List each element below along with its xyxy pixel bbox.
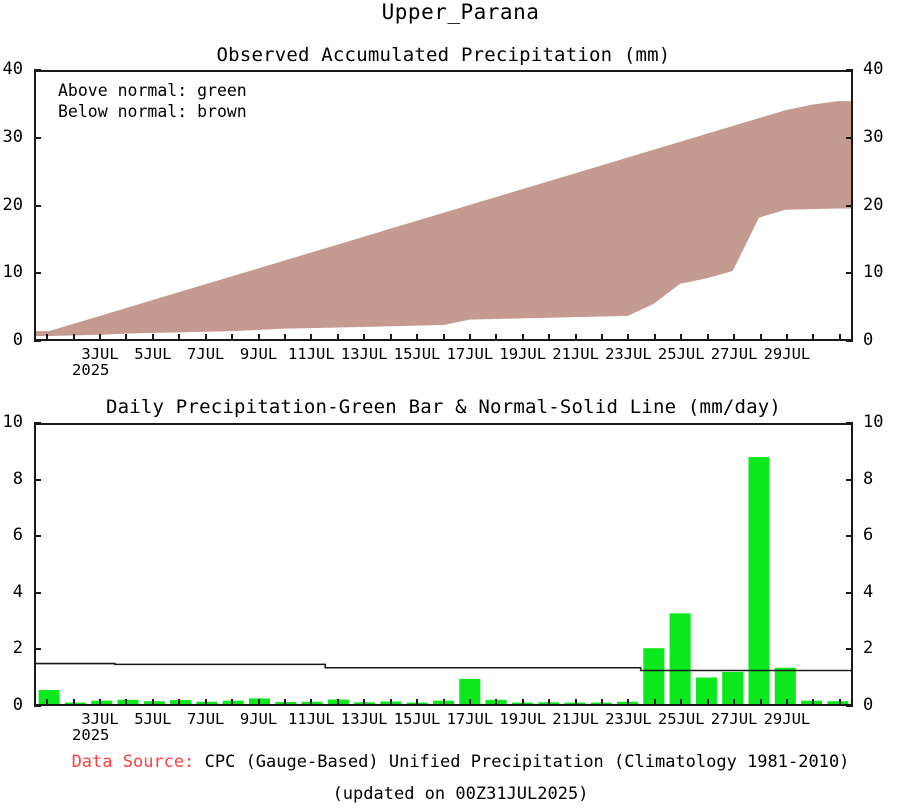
x-tick [284, 334, 286, 341]
y-axis-label-left: 20 [0, 197, 23, 214]
y-tick-left [34, 272, 41, 274]
y-tick-left [34, 648, 41, 650]
x-tick [575, 699, 577, 706]
y-axis-label-right: 10 [863, 414, 921, 431]
y-tick-left [34, 340, 41, 342]
y-axis-label-left: 30 [0, 129, 23, 146]
x-tick [839, 334, 841, 341]
x-tick [152, 334, 154, 341]
x-tick [363, 699, 365, 706]
x-tick [760, 699, 762, 706]
x-tick [680, 699, 682, 706]
data-source-text: CPC (Gauge-Based) Unified Precipitation … [194, 752, 849, 772]
y-tick-left [34, 69, 41, 71]
y-tick-left [34, 535, 41, 537]
x-tick [443, 699, 445, 706]
x-tick [601, 699, 603, 706]
data-source-line: Data Source: CPC (Gauge-Based) Unified P… [0, 752, 921, 772]
y-tick-left [34, 479, 41, 481]
x-tick [416, 334, 418, 341]
y-tick-left [34, 592, 41, 594]
y-axis-label-right: 6 [863, 527, 921, 544]
x-tick [310, 699, 312, 706]
x-tick [707, 334, 709, 341]
x-tick [654, 334, 656, 341]
x-tick [575, 334, 577, 341]
x-tick [125, 334, 127, 341]
x-tick [125, 699, 127, 706]
x-tick [443, 334, 445, 341]
x-tick [760, 334, 762, 341]
y-tick-right [846, 648, 853, 650]
x-tick [390, 699, 392, 706]
x-tick [46, 699, 48, 706]
y-tick-right [846, 137, 853, 139]
x-tick [99, 334, 101, 341]
y-axis-label-right: 0 [863, 332, 921, 349]
y-tick-right [846, 205, 853, 207]
y-axis-label-left: 0 [0, 697, 23, 714]
x-tick [786, 699, 788, 706]
y-tick-left [34, 137, 41, 139]
y-tick-left [34, 422, 41, 424]
x-tick [73, 699, 75, 706]
y-axis-label-left: 10 [0, 414, 23, 431]
y-tick-right [846, 479, 853, 481]
y-tick-right [846, 535, 853, 537]
y-tick-right [846, 705, 853, 707]
y-axis-label-left: 10 [0, 264, 23, 281]
x-tick [786, 334, 788, 341]
x-tick [258, 699, 260, 706]
y-tick-left [34, 205, 41, 207]
data-source-label: Data Source: [72, 752, 195, 772]
x-tick [152, 699, 154, 706]
y-tick-right [846, 272, 853, 274]
x-tick [548, 699, 550, 706]
x-tick [46, 334, 48, 341]
y-axis-label-left: 8 [0, 471, 23, 488]
x-tick [390, 334, 392, 341]
x-tick [73, 334, 75, 341]
x-tick [812, 334, 814, 341]
x-axis-label: 29JUL [747, 711, 827, 727]
x-tick [310, 334, 312, 341]
x-axis-label: 29JUL [747, 346, 827, 362]
y-axis-label-right: 10 [863, 264, 921, 281]
x-tick [231, 334, 233, 341]
y-tick-left [34, 705, 41, 707]
x-tick [839, 699, 841, 706]
x-axis-year-label: 2025 [72, 727, 109, 743]
x-tick [205, 699, 207, 706]
y-axis-label-left: 40 [0, 61, 23, 78]
x-tick [812, 699, 814, 706]
x-tick [627, 334, 629, 341]
x-tick [205, 334, 207, 341]
x-tick [522, 334, 524, 341]
x-tick [363, 334, 365, 341]
y-axis-label-left: 4 [0, 584, 23, 601]
axis-layer: 001010202030304040002244668810103JUL5JUL… [0, 0, 921, 809]
x-tick [337, 699, 339, 706]
chart-page: Upper_Parana Observed Accumulated Precip… [0, 0, 921, 809]
x-tick [522, 699, 524, 706]
x-tick [627, 699, 629, 706]
x-tick [680, 334, 682, 341]
x-tick [99, 699, 101, 706]
y-axis-label-right: 4 [863, 584, 921, 601]
y-axis-label-left: 6 [0, 527, 23, 544]
y-tick-right [846, 422, 853, 424]
y-axis-label-right: 2 [863, 640, 921, 657]
y-axis-label-right: 20 [863, 197, 921, 214]
x-tick [337, 334, 339, 341]
x-tick [416, 699, 418, 706]
y-axis-label-right: 30 [863, 129, 921, 146]
x-tick [258, 334, 260, 341]
x-tick [469, 699, 471, 706]
y-axis-label-right: 40 [863, 61, 921, 78]
y-axis-label-right: 8 [863, 471, 921, 488]
x-tick [178, 699, 180, 706]
y-tick-right [846, 69, 853, 71]
x-tick [707, 699, 709, 706]
x-tick [469, 334, 471, 341]
x-tick [733, 334, 735, 341]
y-axis-label-right: 0 [863, 697, 921, 714]
x-tick [495, 699, 497, 706]
x-tick [548, 334, 550, 341]
y-tick-right [846, 592, 853, 594]
y-tick-right [846, 340, 853, 342]
x-axis-year-label: 2025 [72, 362, 109, 378]
x-tick [231, 699, 233, 706]
y-axis-label-left: 2 [0, 640, 23, 657]
x-tick [495, 334, 497, 341]
x-tick [601, 334, 603, 341]
y-axis-label-left: 0 [0, 332, 23, 349]
x-tick [178, 334, 180, 341]
x-tick [284, 699, 286, 706]
x-tick [733, 699, 735, 706]
x-tick [654, 699, 656, 706]
updated-line: (updated on 00Z31JUL2025) [0, 784, 921, 804]
